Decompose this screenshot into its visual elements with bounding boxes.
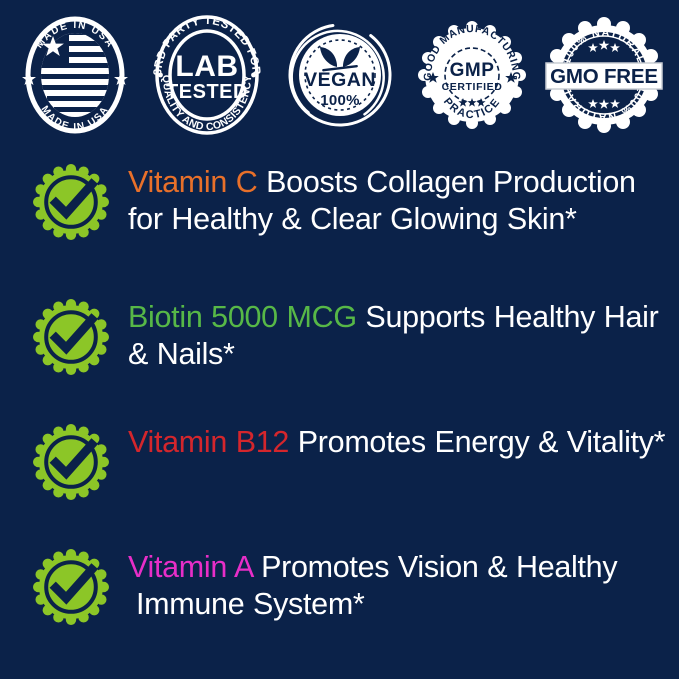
- benefit-rest: Promotes Vision & Healthy: [252, 550, 617, 584]
- gmp-center-text: GMP: [449, 60, 494, 81]
- vegan-percent-text: 100%: [320, 92, 360, 109]
- benefit-row: Vitamin C Boosts Collagen Production for…: [0, 160, 679, 242]
- benefit-line2: & Nails*: [128, 336, 673, 373]
- benefit-line2: Immune System*: [128, 586, 673, 623]
- benefit-highlight: Biotin 5000 MCG: [128, 300, 357, 334]
- benefit-text: Vitamin A Promotes Vision & Healthy Immu…: [128, 545, 679, 623]
- made-in-usa-badge: MADE IN USA MADE IN USA: [14, 10, 136, 140]
- benefit-highlight: Vitamin A: [128, 550, 252, 584]
- benefit-rest: Boosts Collagen Production: [257, 165, 635, 199]
- benefit-line2: for Healthy & Clear Glowing Skin*: [128, 201, 673, 238]
- benefit-row: Vitamin B12 Promotes Energy & Vitality*: [0, 420, 679, 502]
- lab-tested-center-lab: LAB: [176, 50, 239, 83]
- lab-tested-badge: 3RD PARTY TESTED FOR QUALITY AND CONSIST…: [146, 10, 268, 140]
- benefit-rest: Promotes Energy & Vitality*: [289, 425, 665, 459]
- green-check-seal-icon: [31, 297, 111, 377]
- benefit-text: Vitamin C Boosts Collagen Production for…: [128, 160, 679, 238]
- benefits-list: Vitamin C Boosts Collagen Production for…: [0, 152, 679, 679]
- certification-badge-strip: MADE IN USA MADE IN USA 3RD PARTY TESTED…: [0, 0, 679, 150]
- gmo-free-badge: 100% NATURAL 100% NATURAL GMO FREE: [543, 10, 665, 140]
- benefit-row: Vitamin A Promotes Vision & Healthy Immu…: [0, 545, 679, 627]
- green-check-seal-icon: [31, 162, 111, 242]
- gmp-certified-text: CERTIFIED: [441, 81, 502, 93]
- benefit-row: Biotin 5000 MCG Supports Healthy Hair & …: [0, 295, 679, 377]
- benefit-text: Biotin 5000 MCG Supports Healthy Hair & …: [128, 295, 679, 373]
- benefit-rest: Supports Healthy Hair: [357, 300, 659, 334]
- green-check-seal-icon: [31, 547, 111, 627]
- lab-tested-center-tested: TESTED: [166, 81, 248, 103]
- benefit-text: Vitamin B12 Promotes Energy & Vitality*: [128, 420, 679, 461]
- gmp-certified-badge: GOOD MANUFACTURING PRACTICE GMP CERTIFIE…: [411, 10, 533, 140]
- vegan-badge: VEGAN 100%: [279, 10, 401, 140]
- green-check-seal-icon: [31, 422, 111, 502]
- benefit-highlight: Vitamin C: [128, 165, 257, 199]
- gmo-free-center-text: GMO FREE: [550, 65, 658, 88]
- benefit-highlight: Vitamin B12: [128, 425, 289, 459]
- vegan-center-text: VEGAN: [304, 69, 376, 91]
